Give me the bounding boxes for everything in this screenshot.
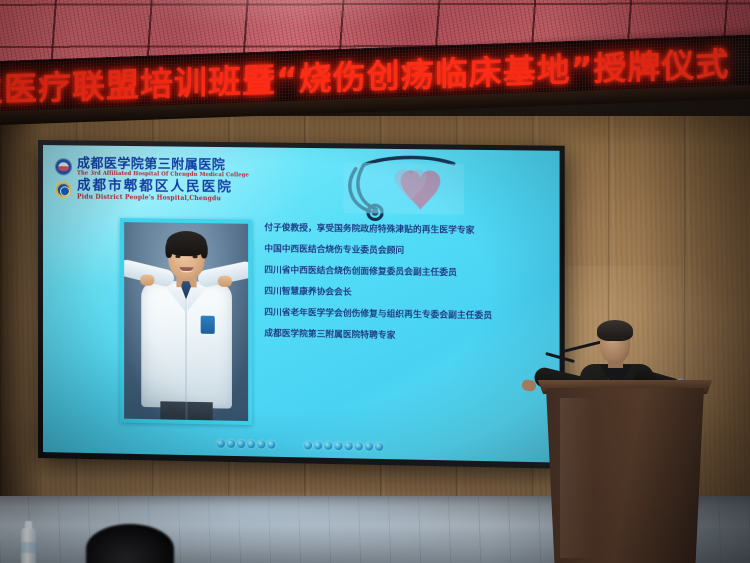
conference-photo-scene: 生医疗联盟培训班暨“烧伤创疡临床基地”授牌仪式 成都医学院第三附属医院 The … [0,0,750,563]
presentation-slide[interactable]: 成都医学院第三附属医院 The 3rd Affiliated Hospital … [43,145,560,463]
display-screen-frame: 成都医学院第三附属医院 The 3rd Affiliated Hospital … [38,140,565,469]
screen-vignette [43,145,560,463]
speaker-glasses-icon [602,338,628,345]
water-bottle [21,528,36,563]
lectern-highlight [560,398,594,558]
